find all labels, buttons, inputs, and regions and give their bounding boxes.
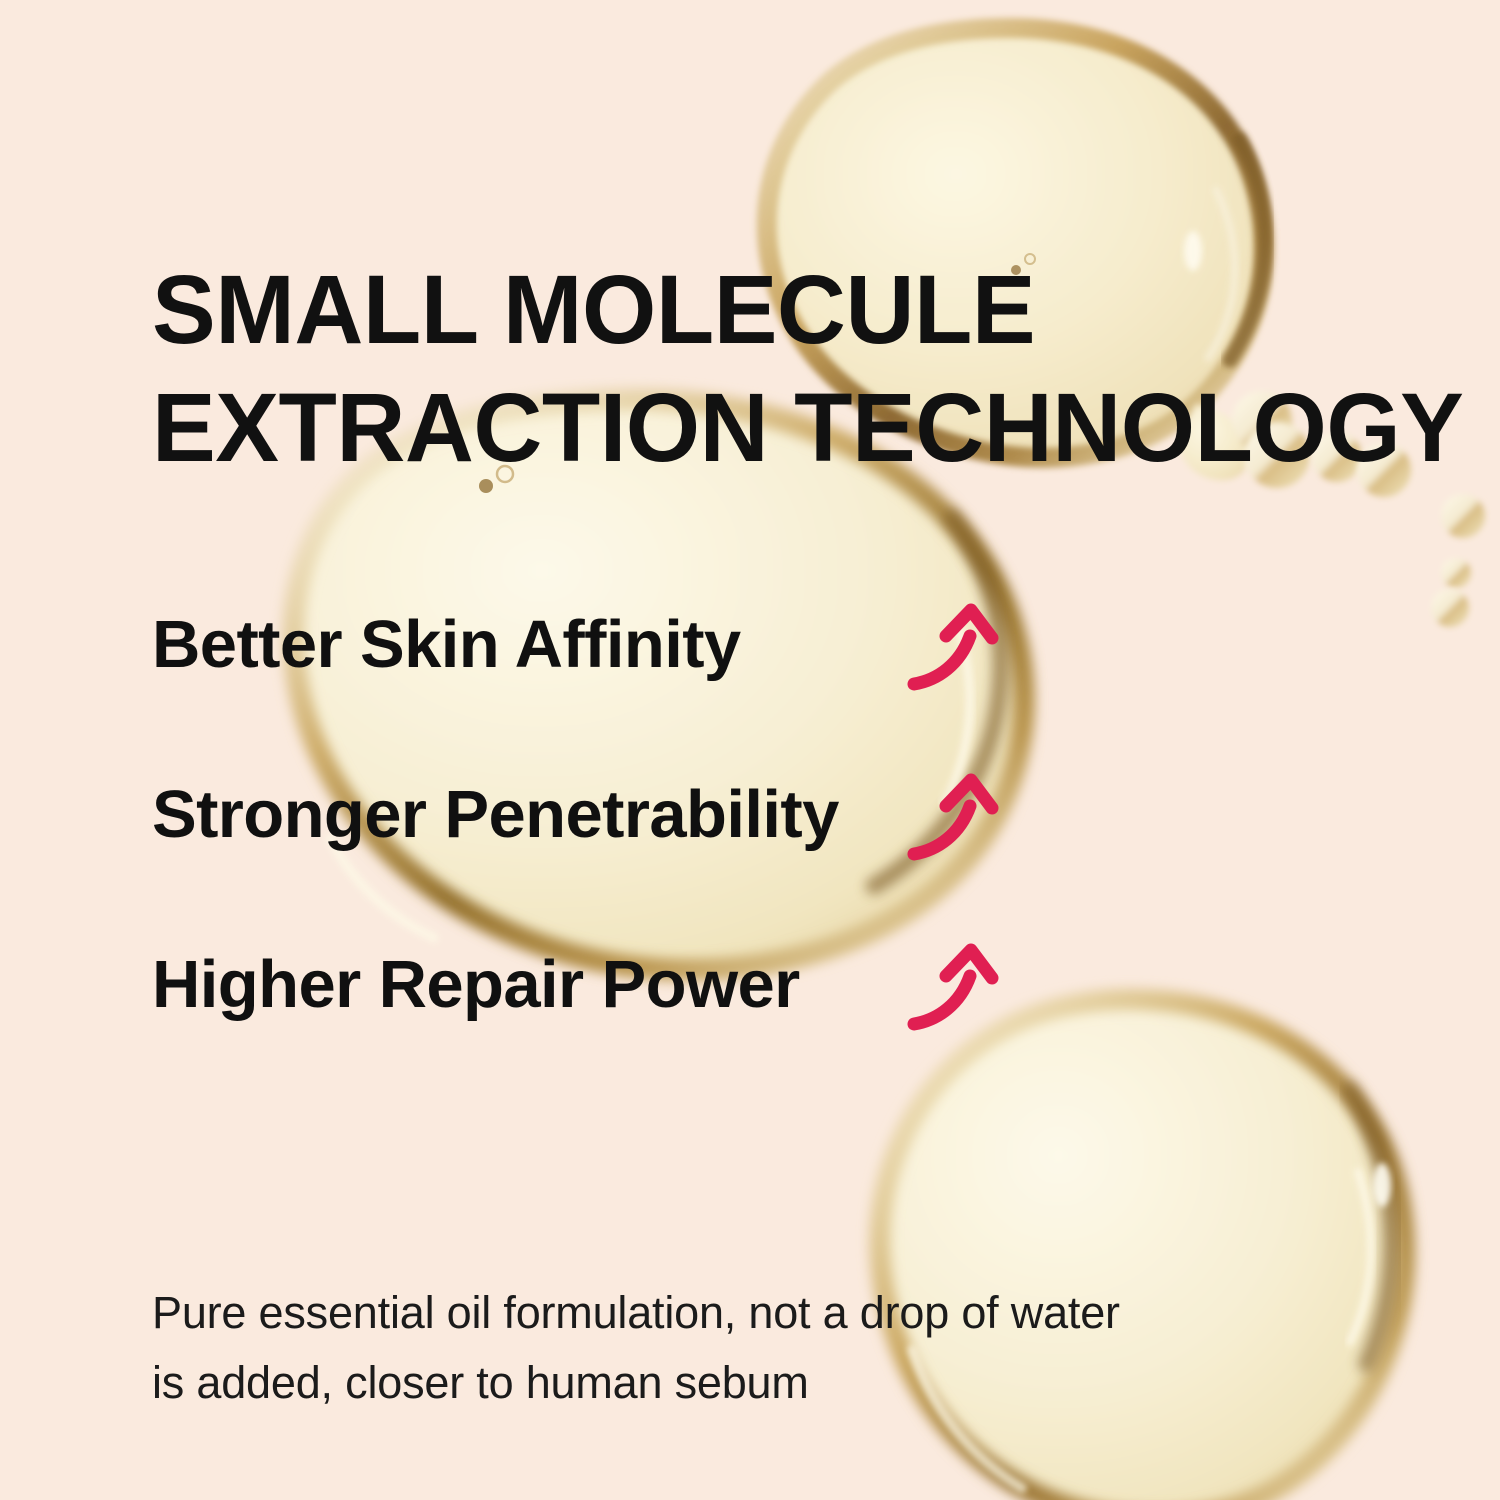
up-arrow-icon [898,592,1006,702]
feature-label: Higher Repair Power [152,946,800,1024]
promo-graphic: SMALL MOLECULE EXTRACTION TECHNOLOGY Bet… [0,0,1500,1500]
feature-item-better-skin-affinity: Better Skin Affinity [152,602,741,688]
up-arrow-icon [898,932,1006,1042]
up-arrow-icon [898,762,1006,872]
feature-label: Better Skin Affinity [152,606,741,684]
caption-line-1: Pure essential oil formulation, not a dr… [152,1278,1382,1348]
page-title: SMALL MOLECULE EXTRACTION TECHNOLOGY [152,251,1393,487]
page-title-line-1: SMALL MOLECULE [152,251,1393,369]
caption-line-2: is added, closer to human sebum [152,1348,1382,1418]
page-title-line-2: EXTRACTION TECHNOLOGY [152,369,1393,487]
feature-item-higher-repair-power: Higher Repair Power [152,942,800,1028]
caption: Pure essential oil formulation, not a dr… [152,1278,1382,1418]
feature-label: Stronger Penetrability [152,776,839,854]
feature-item-stronger-penetrability: Stronger Penetrability [152,772,839,858]
